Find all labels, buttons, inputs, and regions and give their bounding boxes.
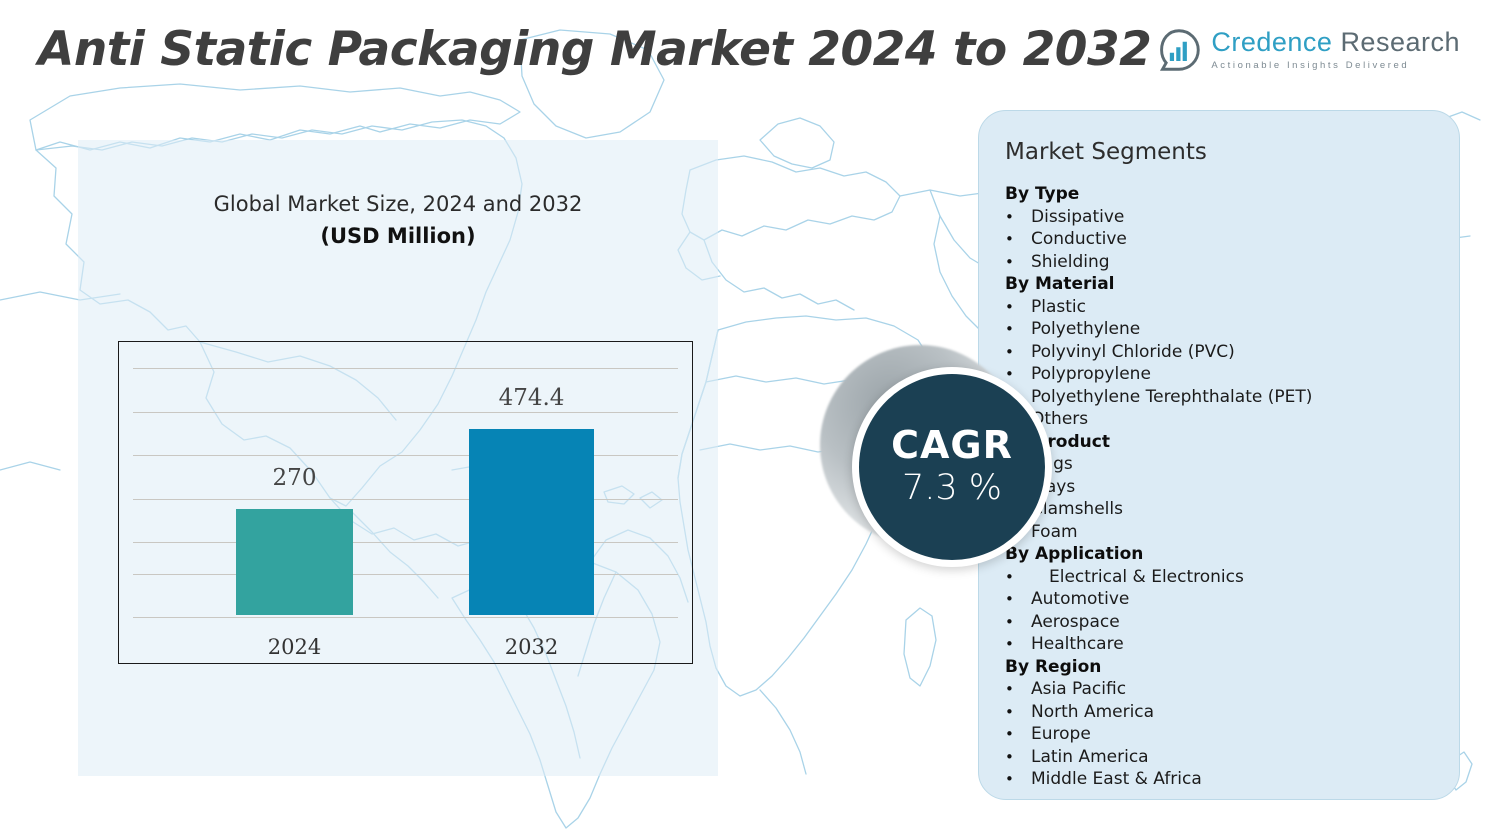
bar-value-label-2032: 474.4 (469, 385, 594, 411)
segment-item-label: Conductive (1031, 228, 1127, 251)
bar-rect-2032 (469, 429, 594, 615)
segment-group-title: By Product (1005, 431, 1459, 454)
segment-list-item: •Europe (1005, 723, 1459, 746)
segment-list-item: •Aerospace (1005, 611, 1459, 634)
segment-item-label: Polyethylene Terephthalate (PET) (1031, 386, 1312, 409)
segment-list-item: •Healthcare (1005, 633, 1459, 656)
page-title: Anti Static Packaging Market 2024 to 203… (38, 22, 1151, 77)
bullet-icon: • (1005, 228, 1031, 251)
bullet-icon: • (1005, 611, 1031, 634)
chart-title: Global Market Size, 2024 and 2032 (78, 192, 718, 216)
logo-name-secondary: Research (1340, 27, 1460, 57)
segment-item-label: North America (1031, 701, 1154, 724)
segment-list-item: •Polypropylene (1005, 363, 1459, 386)
bar-2024: 270 2024 (236, 509, 353, 615)
infographic-canvas: Anti Static Packaging Market 2024 to 203… (0, 0, 1486, 836)
segment-list-item: •Bags (1005, 453, 1459, 476)
segment-list-item: •Foam (1005, 521, 1459, 544)
bar-value-label-2024: 270 (236, 465, 353, 491)
bar-2032: 474.4 2032 (469, 429, 594, 615)
bullet-icon: • (1005, 206, 1031, 229)
segment-item-label: Europe (1031, 723, 1091, 746)
segment-list-item: •Shielding (1005, 251, 1459, 274)
segment-item-label: Asia Pacific (1031, 678, 1126, 701)
segment-group-title: By Application (1005, 543, 1459, 566)
segment-item-label: Healthcare (1031, 633, 1124, 656)
bar-category-label-2032: 2032 (439, 635, 624, 659)
segment-list-item: •Electrical & Electronics (1005, 566, 1459, 589)
bullet-icon: • (1005, 296, 1031, 319)
segment-group-title: By Type (1005, 183, 1459, 206)
segment-item-label: Polyethylene (1031, 318, 1140, 341)
segment-list: •Asia Pacific•North America•Europe•Latin… (979, 678, 1459, 791)
segment-list-item: •Polyvinyl Chloride (PVC) (1005, 341, 1459, 364)
segment-list-item: •Automotive (1005, 588, 1459, 611)
bar-category-label-2024: 2024 (206, 635, 383, 659)
bar-chart-plot: 270 2024 474.4 2032 (118, 341, 693, 664)
bullet-icon: • (1005, 768, 1031, 791)
segment-list-item: •Asia Pacific (1005, 678, 1459, 701)
segment-list-item: •North America (1005, 701, 1459, 724)
segment-group-title: By Material (1005, 273, 1459, 296)
segment-list-item: •Middle East & Africa (1005, 768, 1459, 791)
chart-panel: Global Market Size, 2024 and 2032 (USD M… (78, 140, 718, 776)
bar-chart-logo-icon (1157, 28, 1201, 72)
segment-list-item: •Trays (1005, 476, 1459, 499)
segment-list-item: •Plastic (1005, 296, 1459, 319)
market-segments-heading: Market Segments (1005, 139, 1459, 165)
brand-logo: Credence Research Actionable Insights De… (1157, 28, 1460, 72)
segment-list-item: •Others (1005, 408, 1459, 431)
segment-item-label: Dissipative (1031, 206, 1124, 229)
bullet-icon: • (1005, 318, 1031, 341)
cagr-circle: CAGR 7.3 % (859, 374, 1045, 560)
segment-item-label: Aerospace (1031, 611, 1120, 634)
bullet-icon: • (1005, 633, 1031, 656)
cagr-badge: CAGR 7.3 % (820, 345, 1070, 595)
segment-list: •Dissipative•Conductive•Shielding (979, 206, 1459, 274)
segment-item-label: Plastic (1031, 296, 1086, 319)
logo-tagline: Actionable Insights Delivered (1211, 61, 1460, 71)
segment-list-item: •Latin America (1005, 746, 1459, 769)
chart-subtitle: (USD Million) (78, 224, 718, 248)
logo-name-primary: Credence (1211, 27, 1332, 57)
bullet-icon: • (1005, 746, 1031, 769)
segment-list-item: •Dissipative (1005, 206, 1459, 229)
bullet-icon: • (1005, 701, 1031, 724)
cagr-value: 7.3 % (902, 468, 1002, 508)
cagr-label: CAGR (891, 426, 1013, 466)
segment-group-title: By Region (1005, 656, 1459, 679)
bars-area: 270 2024 474.4 2032 (119, 342, 692, 663)
segment-item-label: Shielding (1031, 251, 1110, 274)
bar-rect-2024 (236, 509, 353, 615)
segment-list-item: •Clamshells (1005, 498, 1459, 521)
bullet-icon: • (1005, 251, 1031, 274)
segment-item-label: Latin America (1031, 746, 1149, 769)
segment-item-label: Middle East & Africa (1031, 768, 1202, 791)
segment-list-item: •Conductive (1005, 228, 1459, 251)
bullet-icon: • (1005, 678, 1031, 701)
segment-list-item: •Polyethylene Terephthalate (PET) (1005, 386, 1459, 409)
bullet-icon: • (1005, 723, 1031, 746)
segment-list-item: •Polyethylene (1005, 318, 1459, 341)
